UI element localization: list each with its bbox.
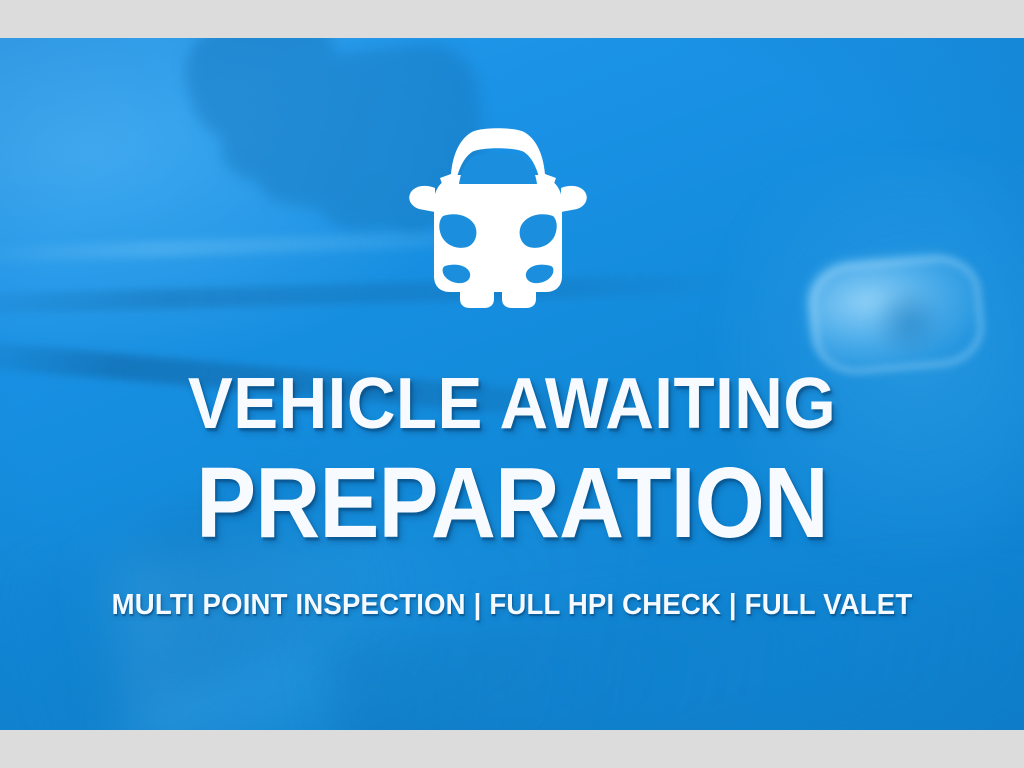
headlight-inner-shadow: [872, 288, 946, 358]
letterbox-bar-top: [0, 0, 1024, 38]
car-front-icon: [373, 116, 623, 312]
letterbox-bar-bottom: [0, 730, 1024, 768]
vehicle-awaiting-preparation-placeholder: VEHICLE AWAITING PREPARATION MULTI POINT…: [0, 0, 1024, 768]
headline-line-1: VEHICLE AWAITING: [33, 368, 990, 440]
banner-image: VEHICLE AWAITING PREPARATION MULTI POINT…: [0, 38, 1024, 730]
services-subtitle: MULTI POINT INSPECTION | FULL HPI CHECK …: [26, 590, 999, 620]
headline-line-2: PREPARATION: [51, 453, 973, 553]
